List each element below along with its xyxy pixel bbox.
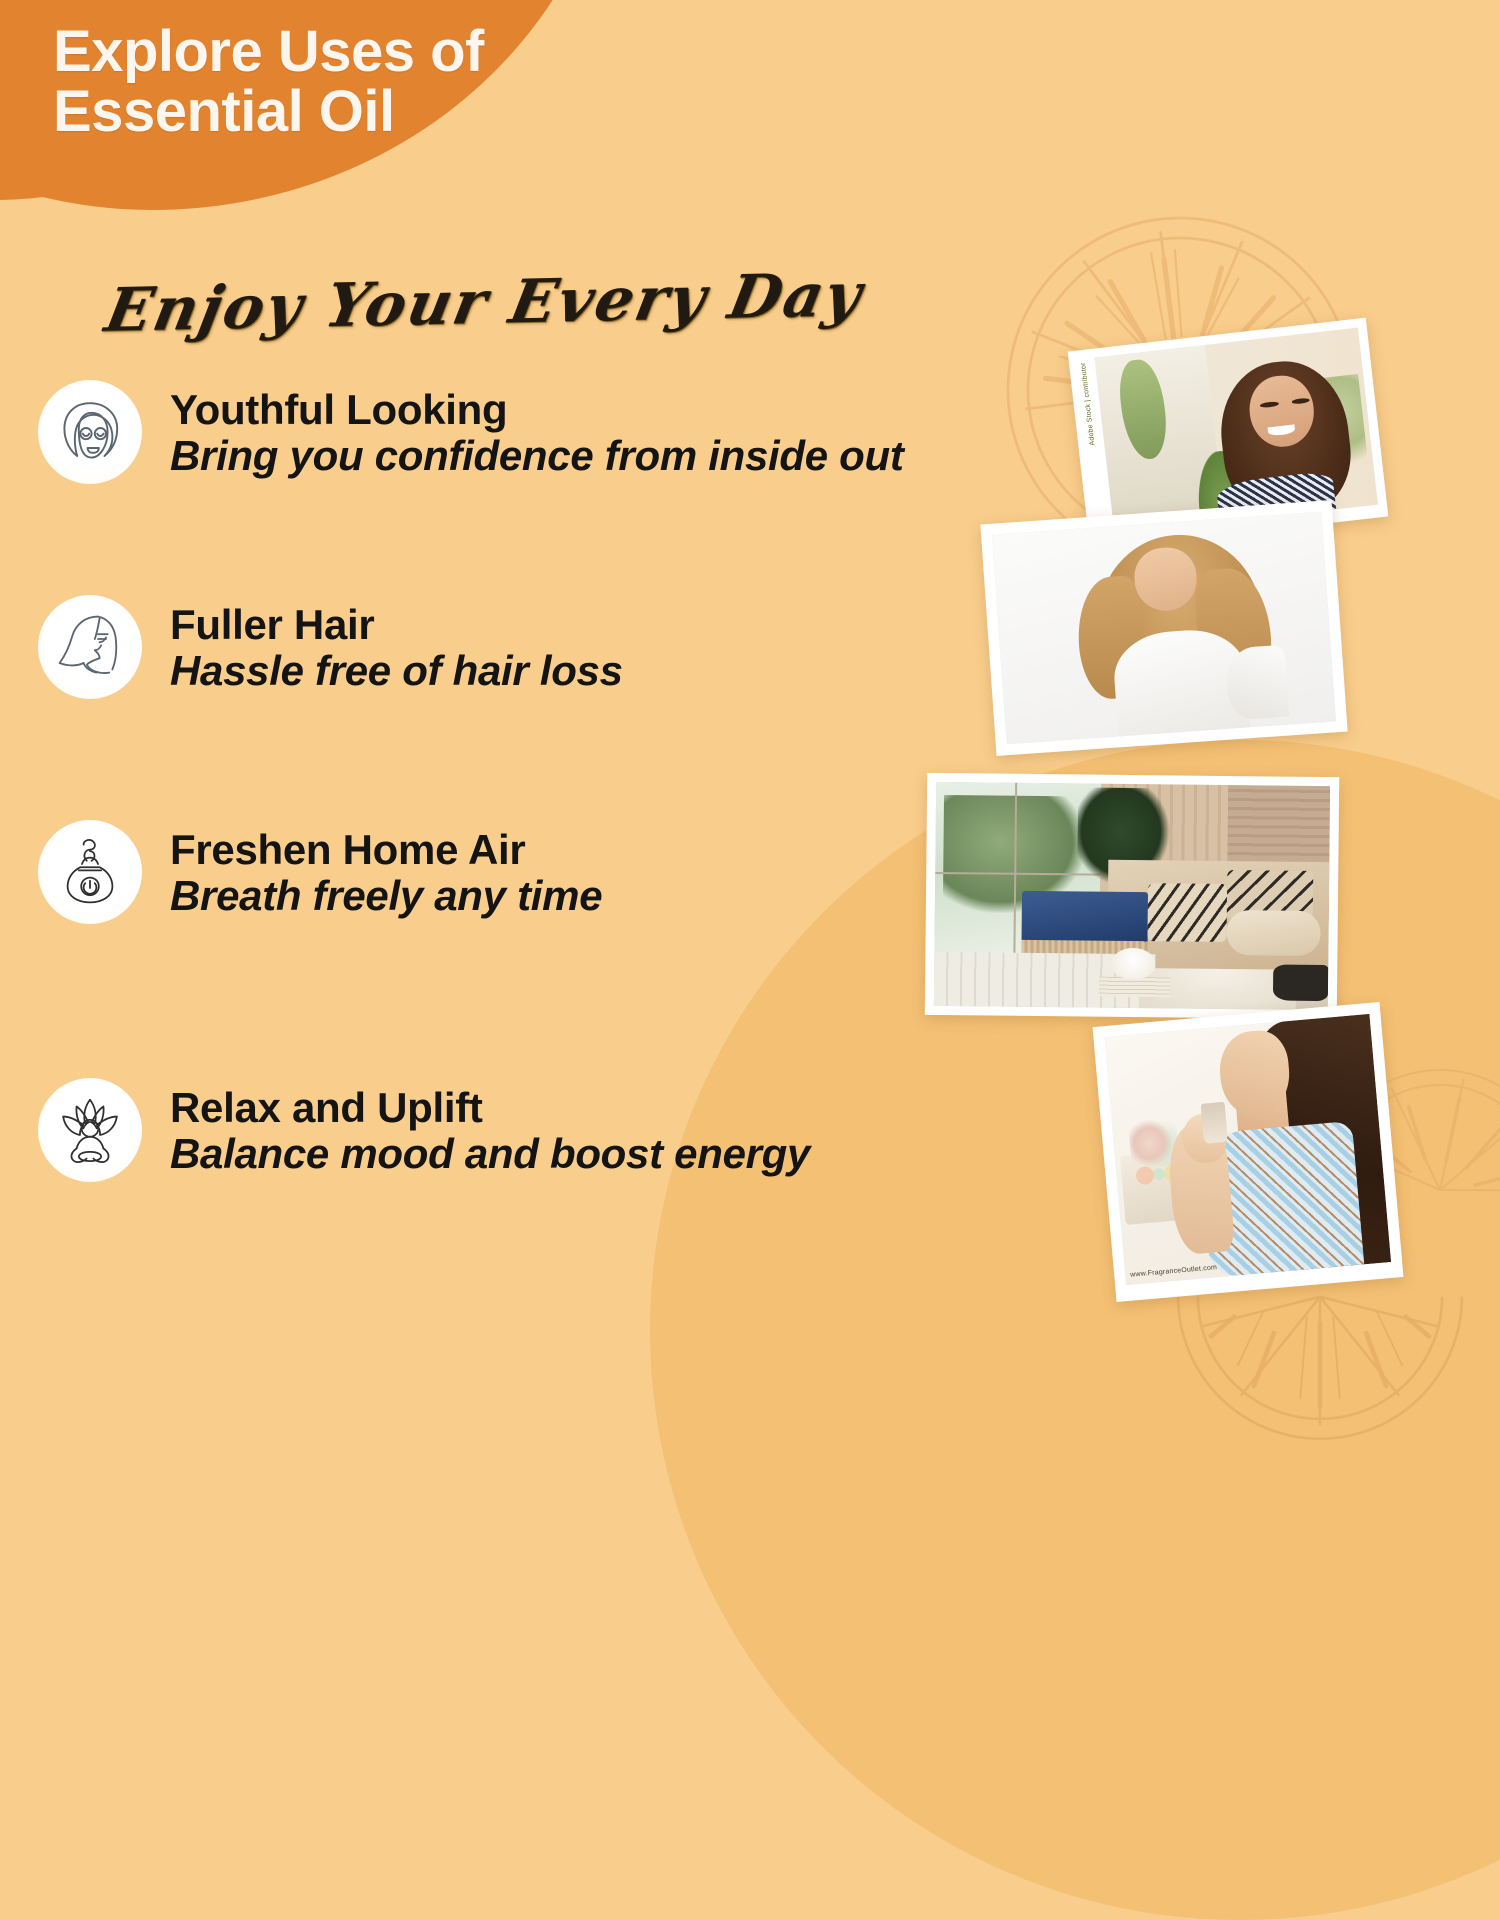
page-title-line-2: Essential Oil <box>53 82 653 142</box>
photo-image <box>934 782 1330 1010</box>
feature-subtitle: Hassle free of hair loss <box>170 647 623 694</box>
feature-title: Fuller Hair <box>170 602 623 647</box>
feature-text: Youthful Looking Bring you confidence fr… <box>170 385 904 479</box>
feature-subtitle: Breath freely any time <box>170 872 602 919</box>
photo-image <box>1094 328 1377 535</box>
feature-item-freshen-home-air: Freshen Home Air Breath freely any time <box>38 820 602 924</box>
feature-item-youthful-looking: Youthful Looking Bring you confidence fr… <box>38 380 904 484</box>
feature-text: Relax and Uplift Balance mood and boost … <box>170 1083 810 1177</box>
feature-subtitle: Bring you confidence from inside out <box>170 432 904 479</box>
photo-watermark: Adobe Stock | contributor <box>1080 362 1096 446</box>
feature-subtitle: Balance mood and boost energy <box>170 1130 810 1177</box>
photo-collage: Adobe Stock | contributor <box>0 0 1500 1500</box>
page-title-line-1: Explore Uses of <box>53 22 653 82</box>
feature-title: Freshen Home Air <box>170 827 602 872</box>
feature-text: Fuller Hair Hassle free of hair loss <box>170 600 623 694</box>
photo-image <box>992 512 1336 745</box>
aroma-diffuser-icon <box>38 820 142 924</box>
lotus-meditation-icon <box>38 1078 142 1182</box>
photo-woman-applying-perfume: www.FragranceOutlet.com <box>1093 1002 1404 1302</box>
photo-wavy-blonde-hair <box>980 500 1347 756</box>
photo-cozy-living-room <box>925 773 1340 1019</box>
feature-item-relax-and-uplift: Relax and Uplift Balance mood and boost … <box>38 1078 810 1182</box>
long-hair-profile-icon <box>38 595 142 699</box>
photo-image <box>1104 1014 1391 1285</box>
face-mask-icon <box>38 380 142 484</box>
feature-item-fuller-hair: Fuller Hair Hassle free of hair loss <box>38 595 623 699</box>
feature-title: Youthful Looking <box>170 387 904 432</box>
feature-title: Relax and Uplift <box>170 1085 810 1130</box>
feature-text: Freshen Home Air Breath freely any time <box>170 825 602 919</box>
page-title: Explore Uses of Essential Oil <box>53 22 653 141</box>
